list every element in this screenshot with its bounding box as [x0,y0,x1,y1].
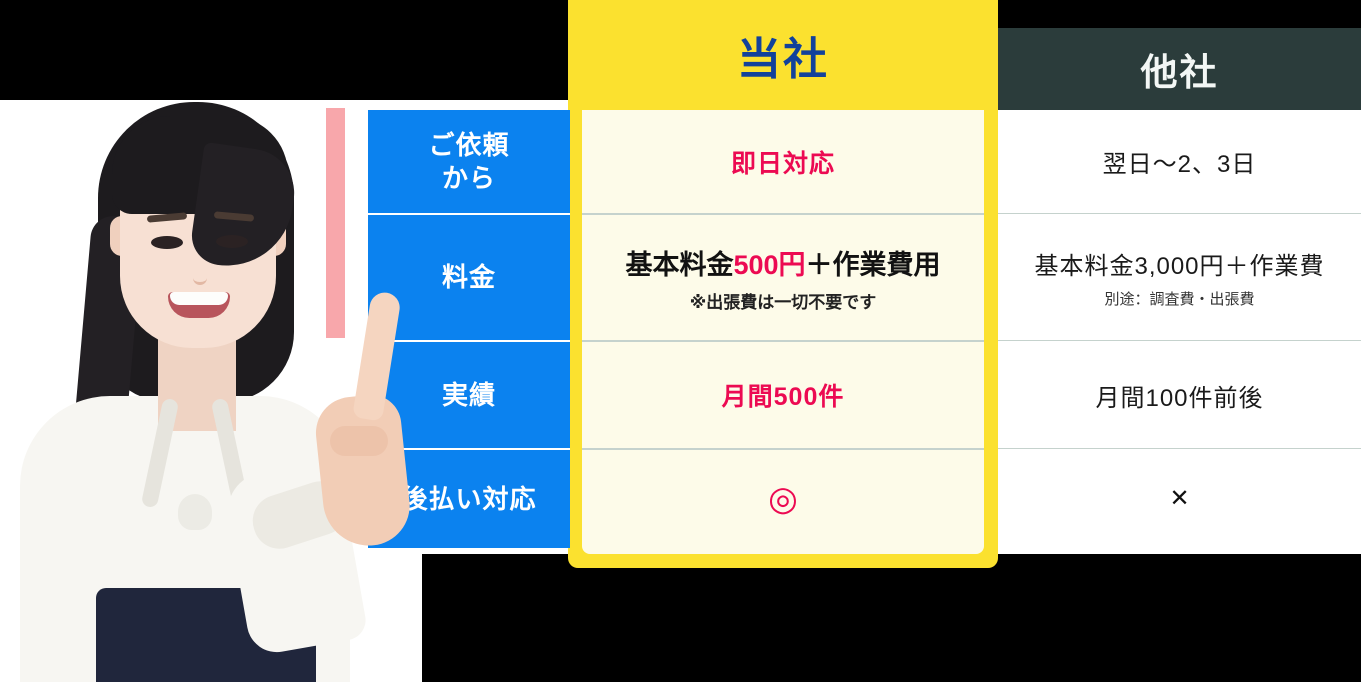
own-cell-price-value: 基本料金500円＋作業費用 [625,243,940,282]
background-bottom-band [422,554,1361,682]
own-cell-price-prefix: 基本料金 [625,250,733,280]
other-cell-request-value: 翌日〜2、3日 [1103,144,1257,179]
presenter-pointing-finger [352,290,402,421]
presenter-photo [0,96,430,682]
other-cell-price-note: 別途：調査費・出張費 [1104,288,1254,309]
other-row-divider-3 [998,448,1361,449]
other-row-divider-2 [998,340,1361,341]
other-cell-request: 翌日〜2、3日 [998,110,1361,213]
own-cell-request-value: 即日対応 [731,144,835,180]
own-company-header: 当社 [568,0,998,110]
own-cell-price-suffix: ＋作業費用 [806,250,941,280]
presenter-mouth [168,292,230,318]
other-cell-price: 基本料金3,000円＋作業費 別途：調査費・出張費 [998,215,1361,340]
own-cell-results-value: 月間500件 [722,377,845,413]
own-cell-request: 即日対応 [582,110,984,213]
presenter-teeth [170,292,228,305]
other-company-header: 他社 [998,28,1361,110]
presenter-blouse-bow [178,494,212,530]
other-cell-deferred-payment: ✕ [998,450,1361,548]
own-company-header-label: 当社 [737,23,829,87]
other-cell-price-value: 基本料金3,000円＋作業費 [1034,246,1324,281]
own-cell-results: 月間500件 [582,342,984,448]
other-cell-results-value: 月間100件前後 [1095,378,1263,413]
cross-icon: ✕ [1169,487,1189,511]
presenter-knuckles [330,426,388,456]
presenter-eye-left [151,236,183,249]
own-cell-price-note: ※出張費は一切不要です [690,288,877,313]
other-company-header-label: 他社 [1141,42,1219,96]
presenter-eye-right [216,235,248,248]
own-cell-deferred-payment: ◎ [582,450,984,548]
own-cell-price: 基本料金500円＋作業費用 ※出張費は一切不要です [582,215,984,340]
double-circle-icon: ◎ [768,482,798,516]
own-cell-price-accent: 500円 [733,250,805,280]
other-row-divider-1 [998,213,1361,214]
other-cell-results: 月間100件前後 [998,342,1361,448]
presenter-nose [193,266,207,285]
